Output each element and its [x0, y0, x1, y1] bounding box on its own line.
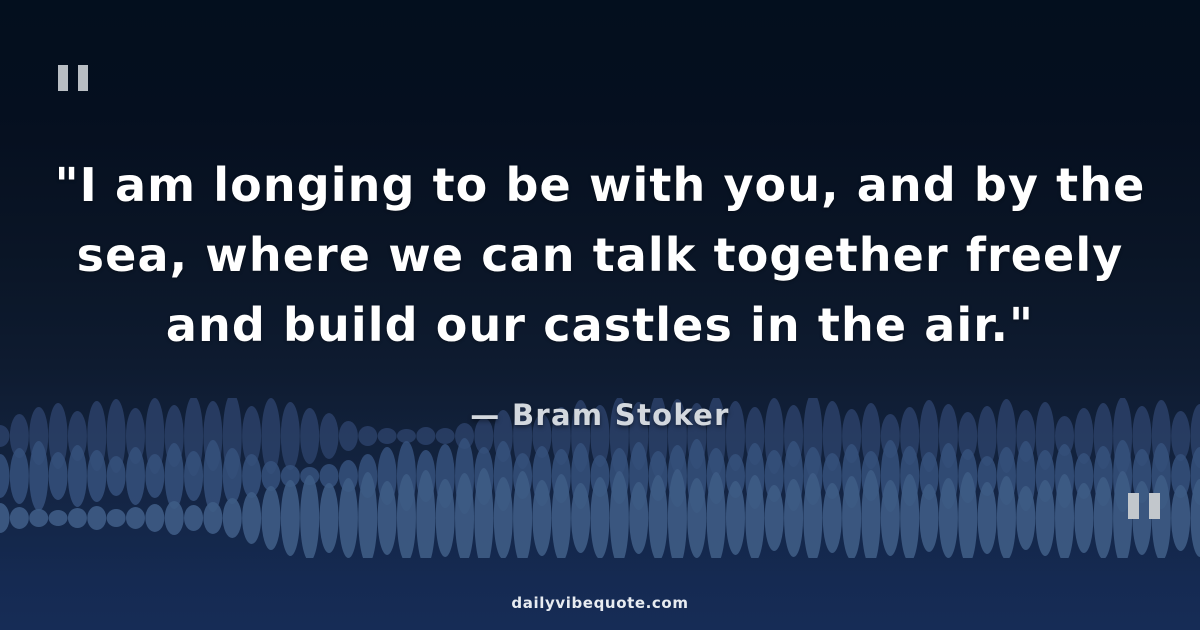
quote-line: and build our castles in the air." — [46, 290, 1154, 360]
quote-open-icon — [58, 65, 88, 91]
quote-line: sea, where we can talk together freely — [46, 220, 1154, 290]
site-watermark: dailyvibequote.com — [0, 594, 1200, 612]
quote-close-icon — [1128, 493, 1160, 519]
quote-close-bar-left — [1128, 493, 1139, 519]
quote-line: "I am longing to be with you, and by the — [46, 150, 1154, 220]
quote-attribution: — Bram Stoker — [0, 398, 1200, 432]
quote-open-bar-right — [78, 65, 88, 91]
quote-open-bar-left — [58, 65, 68, 91]
quote-card: "I am longing to be with you, and by the… — [0, 0, 1200, 630]
quote-text: "I am longing to be with you, and by the… — [0, 150, 1200, 360]
quote-close-bar-right — [1149, 493, 1160, 519]
